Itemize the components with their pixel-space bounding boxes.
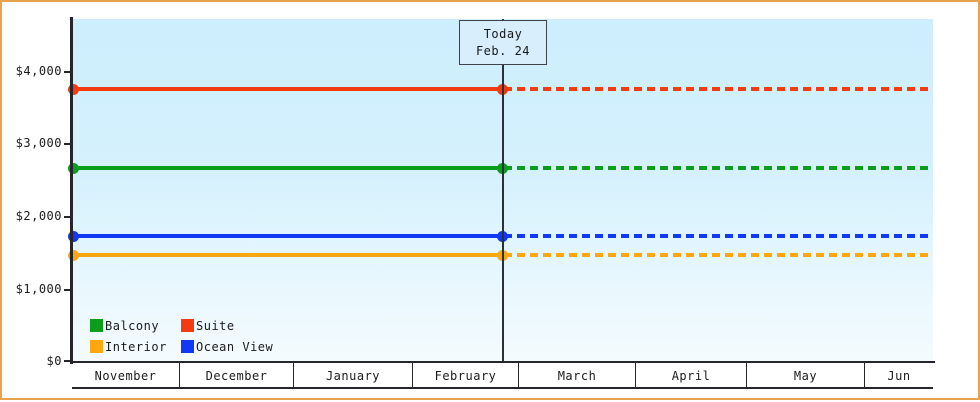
y-axis-line xyxy=(70,17,73,364)
y-axis-label-2000: $2,000 xyxy=(16,209,62,223)
y-tick-1000 xyxy=(64,289,73,291)
month-cell-may[interactable]: May xyxy=(747,362,865,389)
series-suite-solid-segment xyxy=(73,87,504,91)
today-date: Feb. 24 xyxy=(476,43,530,59)
legend-label-interior: Interior xyxy=(105,340,167,354)
series-balcony-dashed-segment xyxy=(504,166,933,170)
series-interior-dashed-segment xyxy=(504,253,933,257)
legend-item-ocean-view[interactable]: Ocean View xyxy=(181,336,273,357)
today-label: Today xyxy=(484,26,523,42)
legend-swatch-interior-icon xyxy=(90,340,103,353)
month-cell-february[interactable]: February xyxy=(413,362,519,389)
series-interior-solid-segment xyxy=(73,253,504,257)
legend-label-suite: Suite xyxy=(196,319,235,333)
series-balcony-solid-segment xyxy=(73,166,504,170)
month-cell-november[interactable]: November xyxy=(72,362,180,389)
chart-legend: Balcony Suite Interior Ocean View xyxy=(90,315,273,357)
month-cell-jun[interactable]: Jun xyxy=(865,362,933,389)
legend-swatch-suite-icon xyxy=(181,319,194,332)
today-marker-line xyxy=(502,19,504,362)
month-cell-december[interactable]: December xyxy=(180,362,294,389)
series-ocean-view-solid-segment xyxy=(73,234,504,238)
y-tick-3000 xyxy=(64,143,73,145)
series-suite-dashed-segment xyxy=(504,87,933,91)
month-cell-april[interactable]: April xyxy=(636,362,747,389)
y-axis-label-1000: $1,000 xyxy=(16,282,62,296)
y-axis-label-3000: $3,000 xyxy=(16,136,62,150)
month-cell-january[interactable]: January xyxy=(294,362,413,389)
y-axis-labels: $4,000 $3,000 $2,000 $1,000 $0 xyxy=(2,2,62,402)
month-cell-march[interactable]: March xyxy=(519,362,636,389)
legend-label-ocean-view: Ocean View xyxy=(196,340,273,354)
y-axis-label-0: $0 xyxy=(47,354,62,368)
legend-swatch-balcony-icon xyxy=(90,319,103,332)
today-callout: Today Feb. 24 xyxy=(459,20,547,65)
legend-swatch-ocean-view-icon xyxy=(181,340,194,353)
legend-label-balcony: Balcony xyxy=(105,319,159,333)
chart-page: Today Feb. 24 $4,000 $3,000 $2,000 $1,00… xyxy=(0,0,980,400)
legend-item-interior[interactable]: Interior xyxy=(90,336,181,357)
y-tick-4000 xyxy=(64,71,73,73)
series-ocean-view-dashed-segment xyxy=(504,234,933,238)
legend-item-balcony[interactable]: Balcony xyxy=(90,315,181,336)
legend-item-suite[interactable]: Suite xyxy=(181,315,273,336)
y-axis-label-4000: $4,000 xyxy=(16,64,62,78)
y-tick-2000 xyxy=(64,216,73,218)
x-axis-month-labels: November December January February March… xyxy=(72,362,933,389)
